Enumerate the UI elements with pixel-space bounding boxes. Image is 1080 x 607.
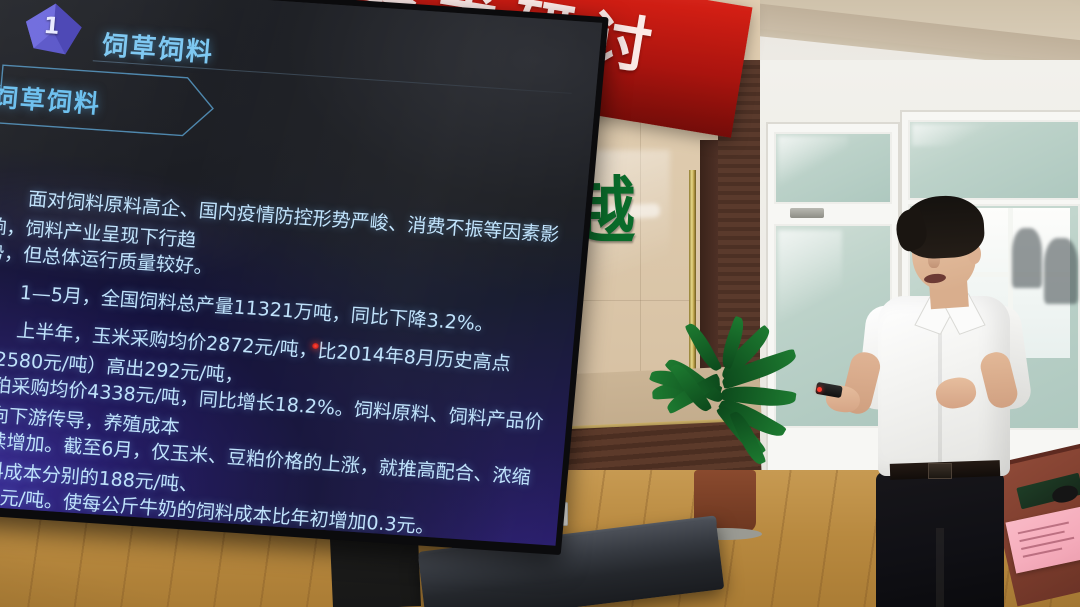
person-silhouette-background [1012,228,1042,288]
slide-number-badge: 1 [21,0,88,60]
presentation-photo-scene: 越 机 [0,0,1080,607]
slide-line: 面对饲料原料高企、国内疫情防控形势严峻、消费不振等因素影响，饲料产业呈现下行趋 [0,188,560,251]
slide-chevron-label: 饲草饲料 [0,78,103,121]
person-silhouette-background [1044,238,1078,304]
slide-surface[interactable]: 1 饲草饲料 饲草饲料 面对饲料原料高企、国内疫情防控形势严峻、消费不振等因素影… [0,0,602,546]
glass-gloss [912,124,1022,146]
slide-body-text: 面对饲料原料高企、国内疫情防控形势严峻、消费不振等因素影响，饲料产业呈现下行趋 … [0,182,570,546]
door-closer-hardware [790,208,824,218]
laser-pointer-dot [312,343,319,349]
presentation-display[interactable]: 1 饲草饲料 饲草饲料 面对饲料原料高企、国内疫情防控形势严峻、消费不振等因素影… [0,0,609,555]
glass-gloss [778,136,848,194]
slide-number-text: 1 [43,13,61,40]
